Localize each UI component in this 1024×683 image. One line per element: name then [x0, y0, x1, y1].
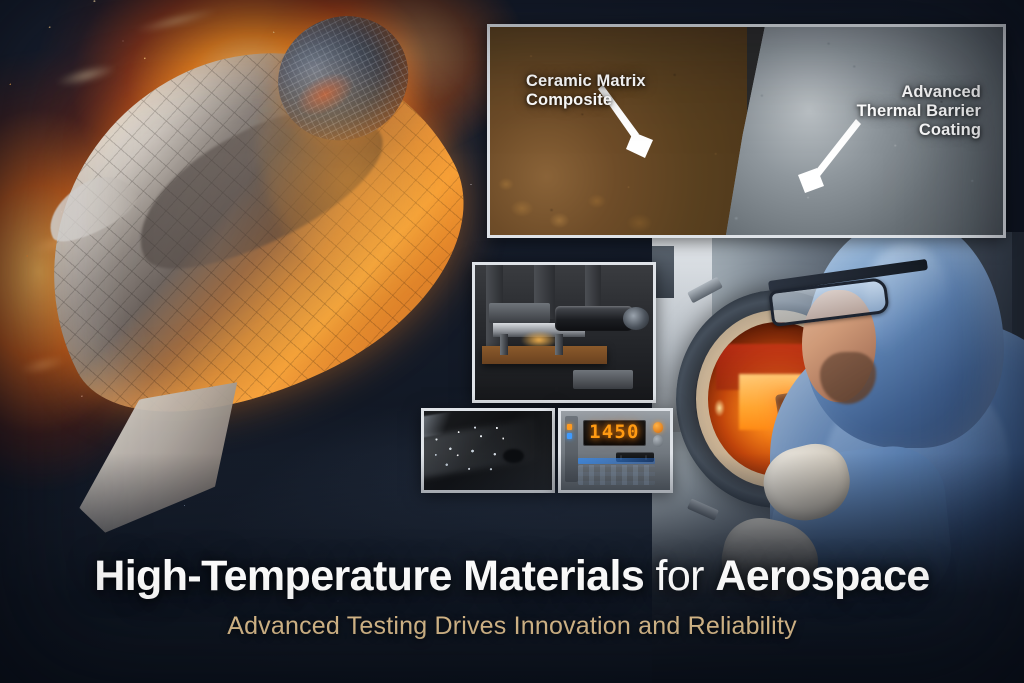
page-title: High-Temperature Materials for Aerospace: [0, 555, 1024, 599]
status-led-blue: [567, 433, 572, 439]
instrument-lens-barrel: [555, 306, 633, 332]
temperature-display: 1450: [583, 420, 646, 446]
status-led-amber: [567, 424, 572, 430]
title-connector: for: [644, 552, 715, 600]
controller-knob-gray[interactable]: [653, 435, 664, 446]
instrument-module-upper: [489, 303, 550, 323]
title-part-one: High-Temperature Materials: [94, 552, 644, 600]
label-advanced-thermal-barrier-coating: Advanced Thermal Barrier Coating: [857, 83, 981, 140]
instrument-module-lower: [573, 370, 634, 389]
title-block: High-Temperature Materials for Aerospace…: [0, 555, 1024, 641]
page-subtitle: Advanced Testing Drives Innovation and R…: [0, 612, 1024, 641]
poster-root: Ceramic Matrix Composite Advanced Therma…: [0, 0, 1024, 683]
instrument-post-left: [500, 334, 508, 356]
instrument-post-right: [555, 334, 563, 356]
label-ceramic-matrix-composite: Ceramic Matrix Composite: [526, 72, 646, 110]
micrograph-panel: Ceramic Matrix Composite Advanced Therma…: [487, 24, 1006, 238]
instrument-panel: [472, 262, 656, 403]
temperature-value: 1450: [589, 423, 640, 442]
title-part-two: Aerospace: [715, 552, 930, 600]
instrument-objective-lens: [623, 307, 650, 330]
